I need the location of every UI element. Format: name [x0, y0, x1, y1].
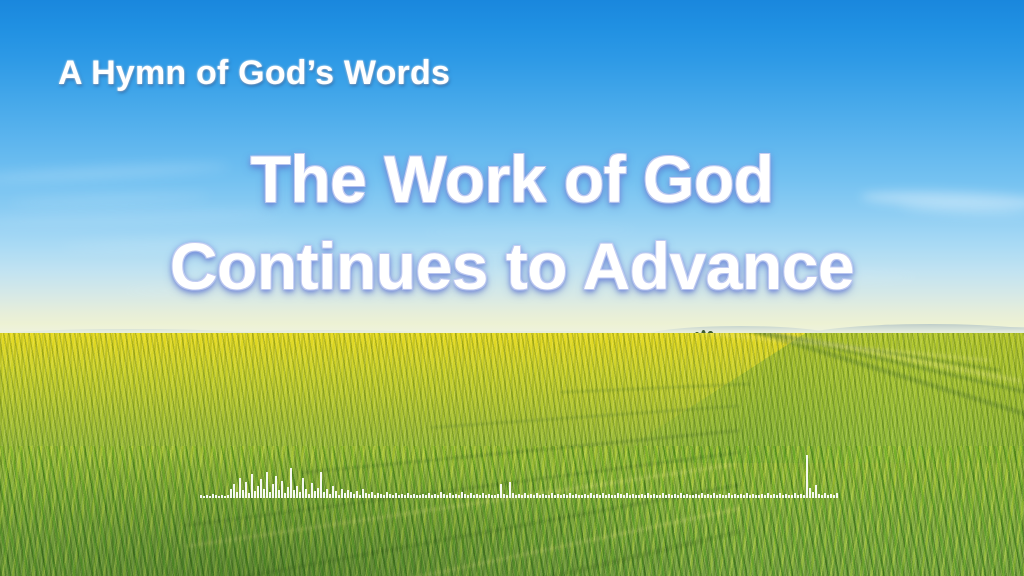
waveform-bar [272, 484, 274, 498]
waveform-bar [320, 472, 322, 498]
waveform-bar [563, 494, 565, 498]
waveform-bar [428, 493, 430, 498]
waveform-bar [269, 492, 271, 498]
waveform-bar [275, 476, 277, 498]
waveform-bar [374, 495, 376, 498]
waveform-bar [473, 495, 475, 498]
waveform-bar [659, 495, 661, 498]
waveform-bar [464, 494, 466, 498]
waveform-bar [578, 495, 580, 498]
waveform-bar [209, 496, 211, 498]
waveform-bar [506, 495, 508, 498]
waveform-bar [572, 495, 574, 498]
waveform-bar [455, 494, 457, 498]
waveform-bar [203, 496, 205, 498]
waveform-bar [554, 495, 556, 498]
waveform-bar [716, 495, 718, 498]
waveform-bar [704, 495, 706, 498]
waveform-bar [683, 495, 685, 498]
waveform-bar [836, 493, 838, 498]
waveform-bar [566, 495, 568, 498]
waveform-bar [743, 495, 745, 498]
waveform-bar [641, 494, 643, 498]
waveform-bar [314, 491, 316, 498]
waveform-bar [212, 494, 214, 498]
waveform-bar [779, 493, 781, 498]
waveform-bar [788, 495, 790, 498]
waveform-bar [518, 494, 520, 498]
waveform-bar [593, 495, 595, 498]
waveform-bar [383, 495, 385, 498]
waveform-bar [206, 495, 208, 498]
waveform-bar [776, 495, 778, 498]
waveform-bar [731, 495, 733, 498]
waveform-bar [719, 494, 721, 498]
waveform-bar [623, 495, 625, 498]
waveform-bar [824, 493, 826, 498]
waveform-bar [674, 494, 676, 498]
waveform-bar [560, 495, 562, 498]
waveform-bar [707, 494, 709, 498]
title-line-2: Continues to Advance [0, 223, 1024, 310]
waveform-bar [590, 493, 592, 498]
waveform-bar [548, 495, 550, 498]
waveform-bar [224, 496, 226, 498]
waveform-bar [638, 495, 640, 498]
waveform-bar [446, 495, 448, 498]
waveform-bar [800, 494, 802, 498]
waveform-bar [338, 495, 340, 498]
waveform-bar [626, 493, 628, 498]
waveform-bar [290, 468, 292, 498]
waveform-bar [368, 494, 370, 498]
waveform-bar [344, 493, 346, 498]
waveform-bar [614, 495, 616, 498]
waveform-bar [830, 494, 832, 498]
waveform-bar [215, 495, 217, 498]
waveform-bar [665, 495, 667, 498]
waveform-bar [656, 495, 658, 498]
waveform-bar [311, 483, 313, 498]
waveform-bar [818, 494, 820, 498]
waveform-bar [419, 495, 421, 498]
waveform-bar [617, 493, 619, 498]
waveform-bar [461, 492, 463, 498]
waveform-bar [434, 494, 436, 498]
waveform-bar [761, 494, 763, 498]
hymn-subtitle: A Hymn of God’s Words [58, 54, 450, 93]
waveform-bar [437, 495, 439, 498]
waveform-bar [785, 494, 787, 498]
waveform-bar [371, 492, 373, 498]
waveform-bar [686, 494, 688, 498]
waveform-bar [236, 492, 238, 498]
waveform-bar [221, 495, 223, 498]
waveform-bar [308, 494, 310, 498]
waveform-bar [713, 493, 715, 498]
waveform-bar [710, 495, 712, 498]
waveform-bar [413, 494, 415, 498]
waveform-bar [509, 482, 511, 498]
waveform-bar [809, 488, 811, 498]
waveform-bar [644, 495, 646, 498]
waveform-bar [698, 495, 700, 498]
waveform-bar [581, 495, 583, 498]
page-title: The Work of God Continues to Advance [0, 136, 1024, 310]
waveform-bar [305, 489, 307, 498]
waveform-bar [527, 495, 529, 498]
waveform-bar [218, 496, 220, 498]
waveform-bar [296, 486, 298, 498]
waveform-bar [329, 494, 331, 498]
waveform-bar [281, 481, 283, 498]
waveform-bar [491, 495, 493, 498]
waveform-bar [806, 455, 808, 498]
waveform-bar [407, 493, 409, 498]
waveform-bar [443, 494, 445, 498]
waveform-bar [392, 495, 394, 498]
waveform-bar [635, 495, 637, 498]
waveform-bar [650, 495, 652, 498]
waveform-bar [482, 493, 484, 498]
waveform-bar [377, 493, 379, 498]
waveform-bar [725, 495, 727, 498]
waveform-bar [488, 494, 490, 498]
waveform-bar [677, 495, 679, 498]
waveform-bar [293, 490, 295, 498]
waveform-bar [734, 494, 736, 498]
waveform-bar [662, 493, 664, 498]
waveform-bar [431, 495, 433, 498]
waveform-bar [821, 495, 823, 498]
waveform-bar [533, 495, 535, 498]
waveform-bar [335, 491, 337, 498]
waveform-bar [740, 494, 742, 498]
waveform-bar [239, 478, 241, 498]
waveform-bar [551, 493, 553, 498]
waveform-bar [341, 489, 343, 498]
waveform-bar [608, 494, 610, 498]
waveform-bar [254, 491, 256, 498]
waveform-bar [596, 494, 598, 498]
waveform-bar [752, 494, 754, 498]
waveform-bar [827, 495, 829, 498]
waveform-bar [479, 495, 481, 498]
waveform-bar [347, 490, 349, 498]
waveform-bar [545, 495, 547, 498]
waveform-bar [332, 486, 334, 498]
waveform-bar [521, 495, 523, 498]
waveform-bar [227, 495, 229, 498]
waveform-bar [737, 495, 739, 498]
waveform-bar [323, 492, 325, 498]
waveform-bar [797, 495, 799, 498]
waveform-bar [812, 492, 814, 498]
waveform-bar [362, 489, 364, 498]
waveform-bar [380, 494, 382, 498]
waveform-bar [266, 472, 268, 498]
title-card: A Hymn of God’s Words The Work of God Co… [0, 0, 1024, 576]
waveform-bar [494, 495, 496, 498]
waveform-bar [395, 493, 397, 498]
waveform-bar [599, 495, 601, 498]
waveform-bar [386, 492, 388, 498]
waveform-bar [515, 495, 517, 498]
waveform-bar [668, 494, 670, 498]
waveform-bar [251, 474, 253, 498]
waveform-bar [452, 495, 454, 498]
waveform-bar [242, 490, 244, 498]
waveform-bar [233, 484, 235, 498]
waveform-bar [326, 489, 328, 498]
waveform-bar [539, 495, 541, 498]
waveform-bar [632, 494, 634, 498]
waveform-bar [230, 489, 232, 498]
waveform-bar [773, 494, 775, 498]
waveform-bar [692, 495, 694, 498]
waveform-bar [653, 494, 655, 498]
waveform-bar [248, 493, 250, 498]
waveform-bar [536, 493, 538, 498]
waveform-bar [764, 495, 766, 498]
waveform-bar [689, 495, 691, 498]
waveform-bar [422, 494, 424, 498]
waveform-bar [791, 495, 793, 498]
waveform-bar [458, 495, 460, 498]
waveform-bar [833, 495, 835, 498]
waveform-bar [425, 495, 427, 498]
waveform-bar [317, 488, 319, 498]
waveform-bar [629, 495, 631, 498]
waveform-bar [287, 487, 289, 498]
waveform-bar [200, 495, 202, 498]
waveform-bar [284, 493, 286, 498]
waveform-bar [695, 494, 697, 498]
waveform-bar [602, 493, 604, 498]
waveform-bar [503, 494, 505, 498]
waveform-bar [470, 493, 472, 498]
waveform-bar [701, 493, 703, 498]
waveform-bar [449, 493, 451, 498]
waveform-bar [524, 493, 526, 498]
waveform-bar [728, 493, 730, 498]
waveform-bar [416, 495, 418, 498]
waveform-bar [500, 484, 502, 498]
waveform-bar [353, 494, 355, 498]
waveform-bar [758, 495, 760, 498]
waveform-bar [404, 495, 406, 498]
waveform-bar [815, 485, 817, 498]
waveform-bar [671, 495, 673, 498]
audio-waveform[interactable] [200, 455, 840, 498]
waveform-bar [410, 495, 412, 498]
waveform-bar [647, 493, 649, 498]
waveform-bar [749, 495, 751, 498]
waveform-bar [278, 490, 280, 498]
waveform-bar [575, 494, 577, 498]
waveform-bar [722, 495, 724, 498]
waveform-bar [587, 495, 589, 498]
waveform-bar [263, 489, 265, 498]
waveform-bar [401, 494, 403, 498]
waveform-bar [245, 482, 247, 498]
waveform-bar [350, 492, 352, 498]
waveform-bar [620, 494, 622, 498]
waveform-bar [755, 495, 757, 498]
waveform-bar [782, 495, 784, 498]
waveform-bar [746, 493, 748, 498]
waveform-bar [365, 493, 367, 498]
waveform-bar [680, 493, 682, 498]
waveform-bar [584, 494, 586, 498]
waveform-bar [497, 494, 499, 498]
waveform-bar [299, 492, 301, 498]
waveform-bar [359, 495, 361, 498]
waveform-bar [398, 495, 400, 498]
waveform-bar [260, 479, 262, 498]
waveform-bar [257, 486, 259, 498]
waveform-bar [569, 493, 571, 498]
waveform-bar [605, 495, 607, 498]
waveform-bar [557, 494, 559, 498]
waveform-bar [512, 493, 514, 498]
waveform-bar [611, 495, 613, 498]
waveform-bar [794, 493, 796, 498]
waveform-bar [356, 491, 358, 498]
waveform-bar [770, 495, 772, 498]
waveform-bar [467, 495, 469, 498]
title-line-1: The Work of God [0, 136, 1024, 223]
waveform-bar [302, 478, 304, 498]
waveform-bar [485, 495, 487, 498]
waveform-bar [389, 494, 391, 498]
waveform-bar [476, 494, 478, 498]
waveform-bar [542, 494, 544, 498]
waveform-bar [803, 495, 805, 498]
waveform-bar [530, 494, 532, 498]
waveform-bar [440, 492, 442, 498]
waveform-bar [767, 493, 769, 498]
